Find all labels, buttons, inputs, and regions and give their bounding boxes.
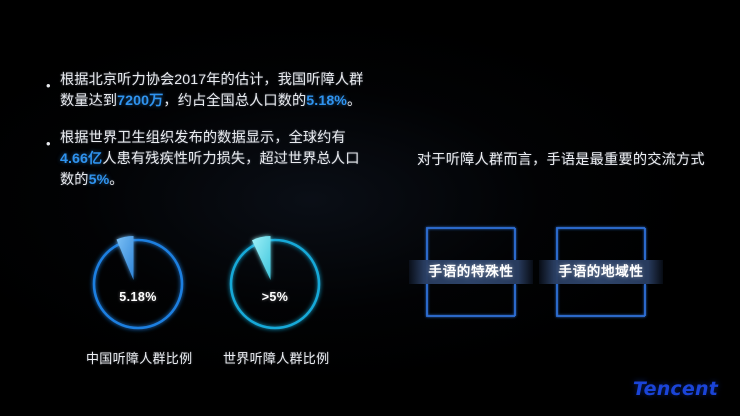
frame-sign-language-specificity[interactable]: 手语的特殊性 (425, 226, 517, 318)
bullet-highlight-518pct: 5.18% (306, 93, 347, 109)
pie-caption-china: 中国听障人群比例 (86, 348, 190, 367)
right-heading: 对于听障人群而言，手语是最重要的交流方式 (417, 148, 717, 172)
pie-center-label-china: 5.18% (88, 290, 188, 304)
donut-ring-china: 5.18% (88, 232, 188, 332)
pie-center-label-world: >5% (225, 290, 325, 304)
frame-group: 手语的特殊性 手语的地域性 (417, 226, 717, 326)
bullet-segment: 根据世界卫生组织发布的数据显示，全球约有 (60, 130, 346, 146)
bullet-marker-icon: • (46, 137, 60, 150)
bullet-highlight-7200wan: 7200万 (117, 93, 163, 109)
bullet-list: • 根据北京听力协会2017年的估计，我国听障人群数量达到7200万，约占全国总… (46, 70, 366, 207)
bullet-highlight-5pct: 5% (89, 172, 110, 188)
donut-ring-world: >5% (225, 232, 325, 332)
bullet-marker-icon: • (46, 79, 60, 92)
bullet-highlight-466yi: 4.66亿 (60, 151, 102, 167)
pie-chart-group: 5.18% 中国听障人群比例 (78, 232, 363, 382)
bullet-text-1: 根据北京听力协会2017年的估计，我国听障人群数量达到7200万，约占全国总人口… (60, 70, 366, 112)
pie-caption-world: 世界听障人群比例 (223, 348, 327, 367)
bullet-segment: 。 (109, 172, 123, 188)
frame-sign-language-regionality[interactable]: 手语的地域性 (555, 226, 647, 318)
pie-chart-world: >5% 世界听障人群比例 (223, 232, 327, 382)
pie-chart-china: 5.18% 中国听障人群比例 (86, 232, 190, 382)
list-item: • 根据世界卫生组织发布的数据显示，全球约有4.66亿人患有残疾性听力损失，超过… (46, 128, 366, 191)
bullet-segment: 。 (347, 93, 361, 109)
frame-label-1: 手语的特殊性 (409, 260, 533, 284)
slide-canvas: • 根据北京听力协会2017年的估计，我国听障人群数量达到7200万，约占全国总… (0, 0, 740, 416)
tencent-logo: Tencent (633, 378, 718, 400)
frame-label-2: 手语的地域性 (539, 260, 663, 284)
list-item: • 根据北京听力协会2017年的估计，我国听障人群数量达到7200万，约占全国总… (46, 70, 366, 112)
bullet-segment: ，约占全国总人口数的 (163, 93, 306, 109)
bullet-text-2: 根据世界卫生组织发布的数据显示，全球约有4.66亿人患有残疾性听力损失，超过世界… (60, 128, 366, 191)
